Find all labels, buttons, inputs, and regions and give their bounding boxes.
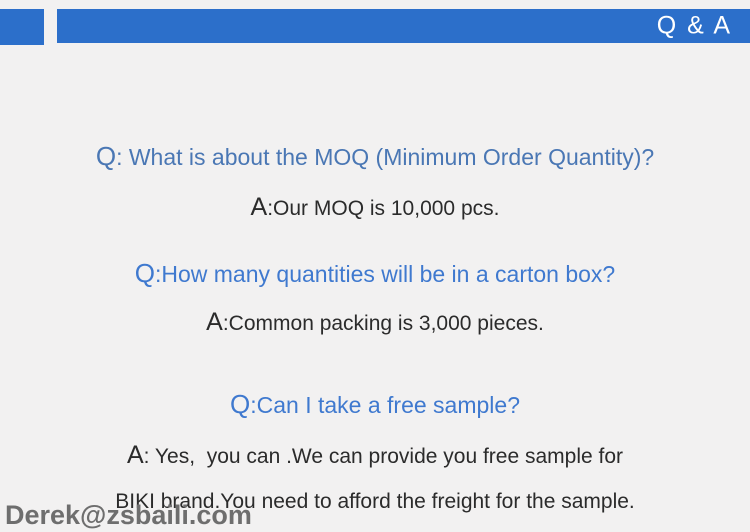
question-body-1: : What is about the MOQ (Minimum Order Q… xyxy=(116,144,654,170)
header-bar: Q & A xyxy=(0,0,750,52)
question-lead-1: Q xyxy=(96,141,116,171)
answer-body-3-line-1: : Yes, you can .We can provide you free … xyxy=(144,445,623,468)
question-text-3: Q:Can I take a free sample? xyxy=(230,392,520,418)
answer-text-3-line-1: A: Yes, you can .We can provide you free… xyxy=(127,445,623,468)
page-title: Q & A xyxy=(657,14,732,39)
question-lead-2: Q xyxy=(135,258,155,288)
answer-lead-2: A xyxy=(206,308,223,336)
contact-email: Derek@zsbaili.com xyxy=(5,501,252,529)
qa-item-2-answer: A:Common packing is 3,000 pieces. xyxy=(0,310,750,335)
header-accent-block xyxy=(0,9,44,45)
answer-lead-3: A xyxy=(127,441,144,469)
qa-item-1-question: Q: What is about the MOQ (Minimum Order … xyxy=(0,143,750,170)
answer-text-2: A:Common packing is 3,000 pieces. xyxy=(206,312,544,335)
question-text-1: Q: What is about the MOQ (Minimum Order … xyxy=(96,144,654,170)
header-title-bar: Q & A xyxy=(57,9,750,43)
qa-item-2-question: Q:How many quantities will be in a carto… xyxy=(0,260,750,287)
question-body-2: :How many quantities will be in a carton… xyxy=(155,261,615,287)
qa-item-1-answer: A:Our MOQ is 10,000 pcs. xyxy=(0,195,750,220)
answer-lead-1: A xyxy=(251,193,268,221)
answer-body-1: :Our MOQ is 10,000 pcs. xyxy=(267,197,499,220)
question-lead-3: Q xyxy=(230,389,250,419)
answer-text-1: A:Our MOQ is 10,000 pcs. xyxy=(251,197,500,220)
question-body-3: :Can I take a free sample? xyxy=(250,392,520,418)
question-text-2: Q:How many quantities will be in a carto… xyxy=(135,261,615,287)
answer-body-2: :Common packing is 3,000 pieces. xyxy=(223,312,544,335)
qa-item-3-question: Q:Can I take a free sample? xyxy=(0,391,750,418)
qa-item-3-answer-line-1: A: Yes, you can .We can provide you free… xyxy=(0,443,750,468)
